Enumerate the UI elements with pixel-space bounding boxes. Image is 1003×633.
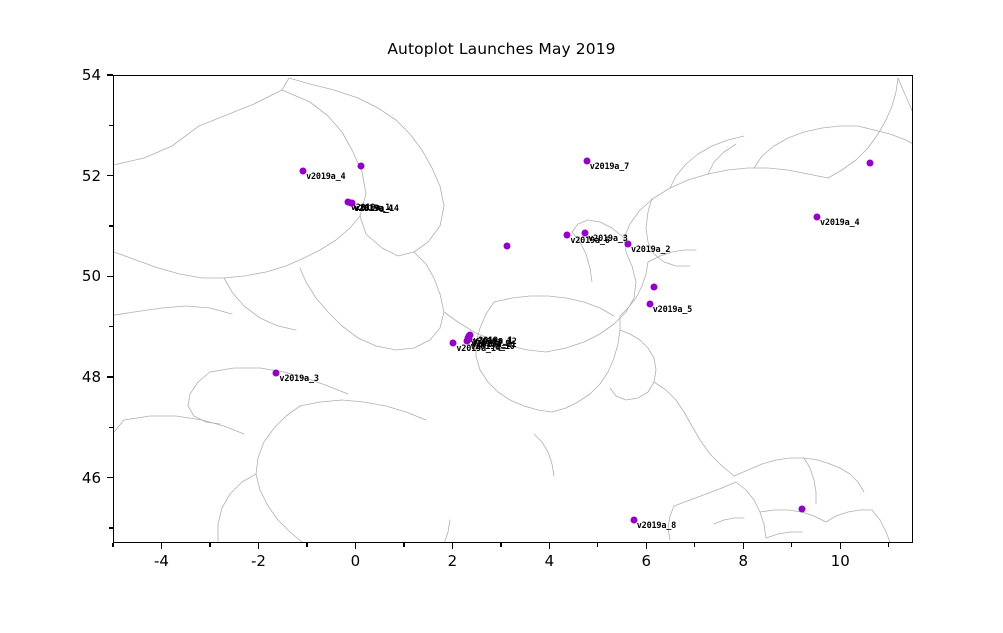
x-axis-minor-tick xyxy=(597,543,598,547)
data-point[interactable] xyxy=(358,162,365,169)
data-point-label: v2019a_14 xyxy=(456,344,500,354)
y-axis-tick xyxy=(107,175,113,176)
page-title: Autoplot Launches May 2019 xyxy=(0,40,1003,58)
y-axis-tick xyxy=(107,477,113,478)
y-axis-tick-label: 50 xyxy=(55,267,101,285)
y-axis-minor-tick xyxy=(109,527,113,528)
y-axis-minor-tick xyxy=(109,125,113,126)
x-axis-tick xyxy=(452,543,453,549)
y-axis-minor-tick xyxy=(109,225,113,226)
data-points-layer: v2019a_4v2019a_1v2019a_4v2019a_14v2019a_… xyxy=(114,76,913,543)
x-axis-tick xyxy=(646,543,647,549)
x-axis-minor-tick xyxy=(888,543,889,547)
x-axis-minor-tick xyxy=(306,543,307,547)
x-axis-tick-label: 2 xyxy=(422,552,482,570)
y-axis-tick-label: 54 xyxy=(55,66,101,84)
x-axis-tick xyxy=(840,543,841,549)
y-axis-minor-tick xyxy=(109,427,113,428)
data-point[interactable] xyxy=(650,284,657,291)
x-axis-minor-tick xyxy=(112,543,113,547)
data-point-label: v2019a_2 xyxy=(631,245,670,255)
y-axis-tick xyxy=(107,276,113,277)
x-axis-tick xyxy=(549,543,550,549)
data-point[interactable] xyxy=(503,242,510,249)
data-point-label: v2019a_8 xyxy=(637,521,676,531)
y-axis-tick-label: 52 xyxy=(55,167,101,185)
data-point-label: v2019a_3 xyxy=(279,374,318,384)
x-axis-tick xyxy=(743,543,744,549)
figure-canvas: Autoplot Launches May 2019 xyxy=(0,0,1003,633)
y-axis-tick xyxy=(107,376,113,377)
y-axis-tick-label: 46 xyxy=(55,469,101,487)
x-axis-tick-label: -4 xyxy=(131,552,191,570)
data-point-label: v2019a_3 xyxy=(588,234,627,244)
x-axis-minor-tick xyxy=(403,543,404,547)
map-plot-area[interactable]: v2019a_4v2019a_1v2019a_4v2019a_14v2019a_… xyxy=(113,75,913,543)
data-point-label: v2019a_14 xyxy=(355,204,399,214)
data-point[interactable] xyxy=(867,159,874,166)
x-axis-tick xyxy=(355,543,356,549)
x-axis-minor-tick xyxy=(694,543,695,547)
data-point-label: v2019a_4 xyxy=(306,172,345,182)
y-axis-tick-label: 48 xyxy=(55,368,101,386)
x-axis-tick xyxy=(161,543,162,549)
data-point-label: v2019a_5 xyxy=(653,305,692,315)
data-point-label: v2019a_4 xyxy=(820,218,859,228)
x-axis-tick-label: 4 xyxy=(519,552,579,570)
data-point[interactable] xyxy=(798,505,805,512)
x-axis-minor-tick xyxy=(500,543,501,547)
x-axis-minor-tick xyxy=(791,543,792,547)
x-axis-tick xyxy=(258,543,259,549)
x-axis-tick-label: 10 xyxy=(810,552,870,570)
y-axis-minor-tick xyxy=(109,326,113,327)
data-point-label: v2019a_7 xyxy=(590,162,629,172)
x-axis-tick-label: 0 xyxy=(325,552,385,570)
x-axis-tick-label: 6 xyxy=(616,552,676,570)
x-axis-tick-label: -2 xyxy=(228,552,288,570)
y-axis-tick xyxy=(107,74,113,75)
x-axis-tick-label: 8 xyxy=(713,552,773,570)
x-axis-minor-tick xyxy=(209,543,210,547)
